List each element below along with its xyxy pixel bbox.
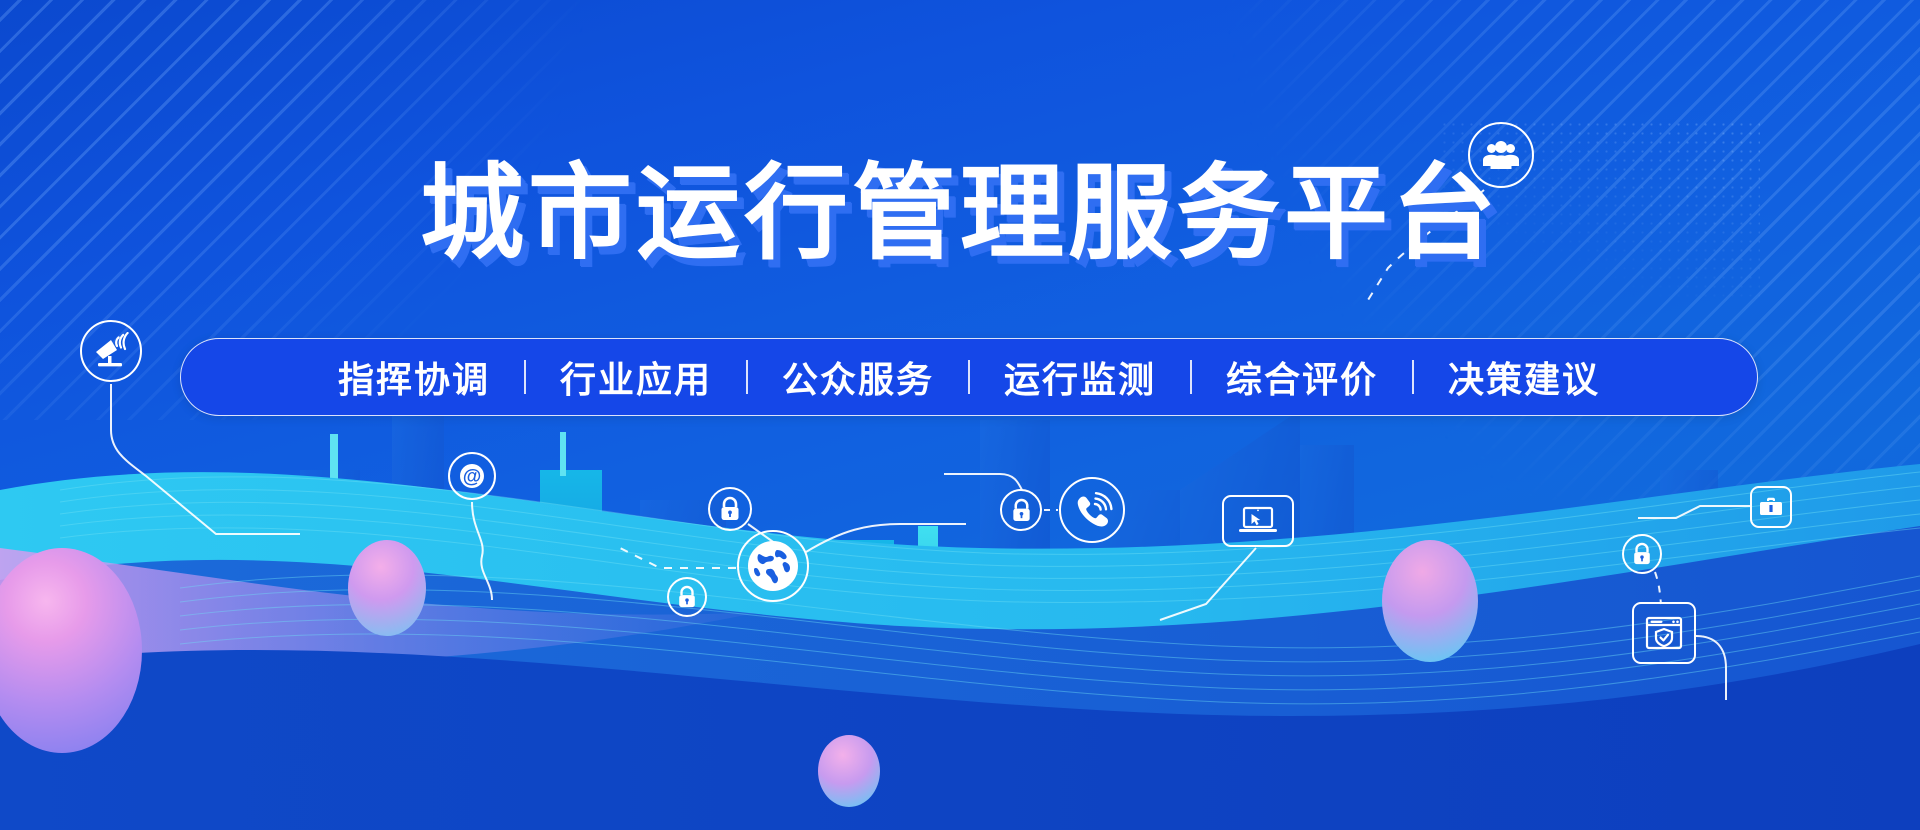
nav-item-gongzhong-fuwu[interactable]: 公众服务 (748, 351, 968, 403)
briefcase-icon (1750, 486, 1792, 528)
nav-pill: 指挥协调 行业应用 公众服务 运行监测 综合评价 决策建议 (180, 338, 1758, 416)
lock-icon (1000, 489, 1042, 531)
nav-item-yunxing-jiance[interactable]: 运行监测 (970, 351, 1190, 403)
nav-item-zhihui-xietiao[interactable]: 指挥协调 (304, 351, 524, 403)
nav-list: 指挥协调 行业应用 公众服务 运行监测 综合评价 决策建议 (304, 351, 1634, 403)
lock-icon (667, 577, 707, 617)
page-title-wrap: 城市运行管理服务平台 (0, 158, 1920, 270)
svg-text:@: @ (463, 467, 482, 488)
browser-shield-icon (1632, 602, 1696, 664)
at-sign-icon: @ (448, 452, 496, 500)
lock-icon (708, 487, 752, 531)
globe-icon (737, 530, 809, 602)
decorative-sphere (818, 735, 880, 807)
nav-item-juece-jianyi[interactable]: 决策建议 (1414, 351, 1634, 403)
satellite-dish-icon (80, 320, 142, 382)
lock-icon (1622, 534, 1662, 574)
nav-item-hangye-yingyong[interactable]: 行业应用 (526, 351, 746, 403)
decorative-sphere (348, 540, 426, 636)
phone-signal-icon (1059, 477, 1125, 543)
decorative-sphere (1382, 540, 1478, 662)
banner-stage: @ (0, 0, 1920, 830)
nav-item-zonghe-pingjia[interactable]: 综合评价 (1192, 351, 1412, 403)
laptop-cursor-icon (1222, 495, 1294, 547)
page-title: 城市运行管理服务平台 (420, 158, 1500, 270)
